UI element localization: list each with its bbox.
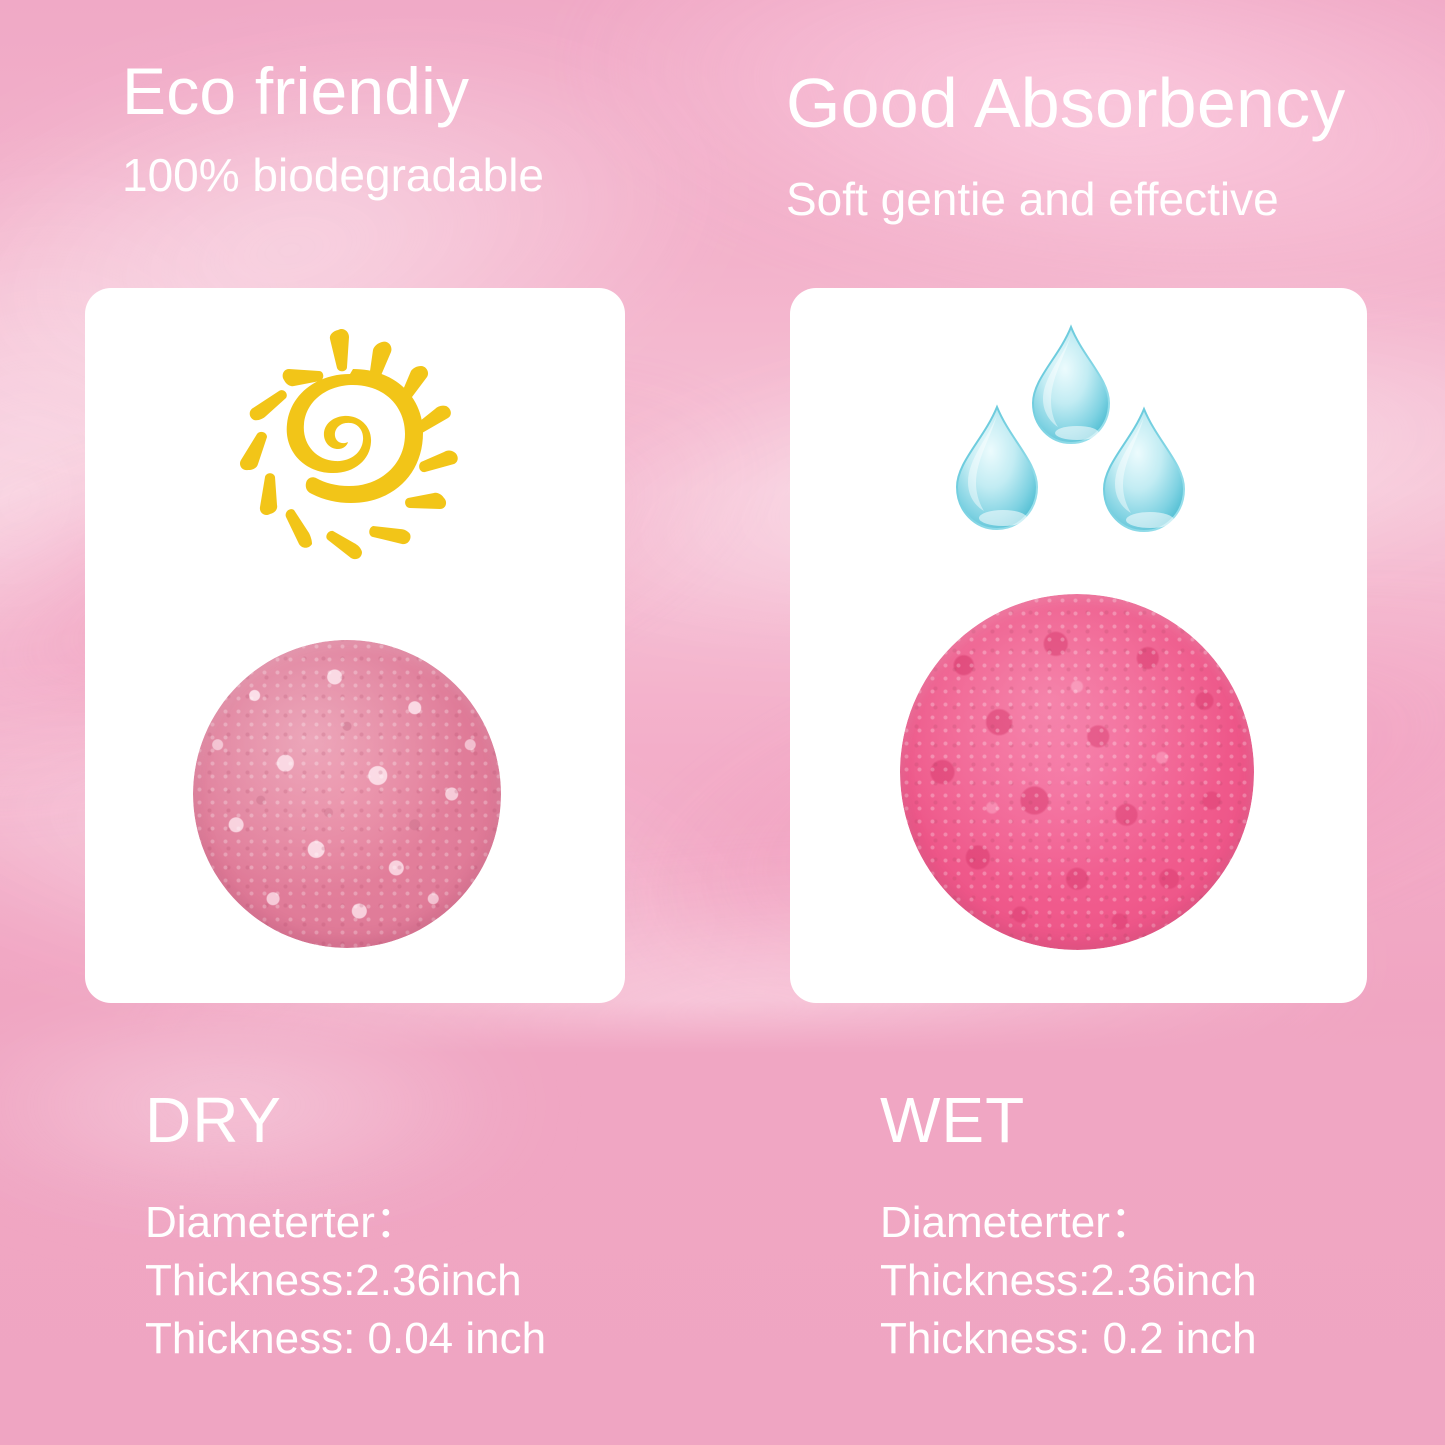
- dry-spec-block: DRY Diameterter： Thickness:2.36inch Thic…: [145, 1088, 546, 1368]
- right-panel-subtitle: Soft gentie and effective: [786, 176, 1279, 222]
- dry-spec-diameter: Diameterter：: [145, 1194, 546, 1252]
- water-droplets-icon: [945, 315, 1200, 550]
- dry-sponge-image: [193, 640, 501, 948]
- left-panel-headline: Eco friendiy: [122, 58, 469, 124]
- wet-spec-title: WET: [880, 1088, 1257, 1152]
- dry-spec-thickness-2: Thickness: 0.04 inch: [145, 1310, 546, 1368]
- wet-sponge-image: [900, 594, 1254, 950]
- wet-spec-thickness-2: Thickness: 0.2 inch: [880, 1310, 1257, 1368]
- infographic-canvas: Eco friendiy 100% biodegradable Good Abs…: [0, 0, 1445, 1445]
- sponge-edge-shading: [900, 594, 1254, 950]
- sun-icon: [222, 322, 472, 572]
- right-panel-headline: Good Absorbency: [786, 68, 1345, 138]
- wet-spec-thickness-1: Thickness:2.36inch: [880, 1252, 1257, 1310]
- wet-spec-block: WET Diameterter： Thickness:2.36inch Thic…: [880, 1088, 1257, 1368]
- wet-spec-diameter: Diameterter：: [880, 1194, 1257, 1252]
- dry-spec-title: DRY: [145, 1088, 546, 1152]
- droplet-left: [957, 407, 1037, 529]
- dry-spec-thickness-1: Thickness:2.36inch: [145, 1252, 546, 1310]
- sponge-edge-shading: [193, 640, 501, 948]
- left-panel-subtitle: 100% biodegradable: [122, 152, 544, 198]
- droplet-right: [1104, 409, 1184, 531]
- droplet-top: [1033, 327, 1109, 443]
